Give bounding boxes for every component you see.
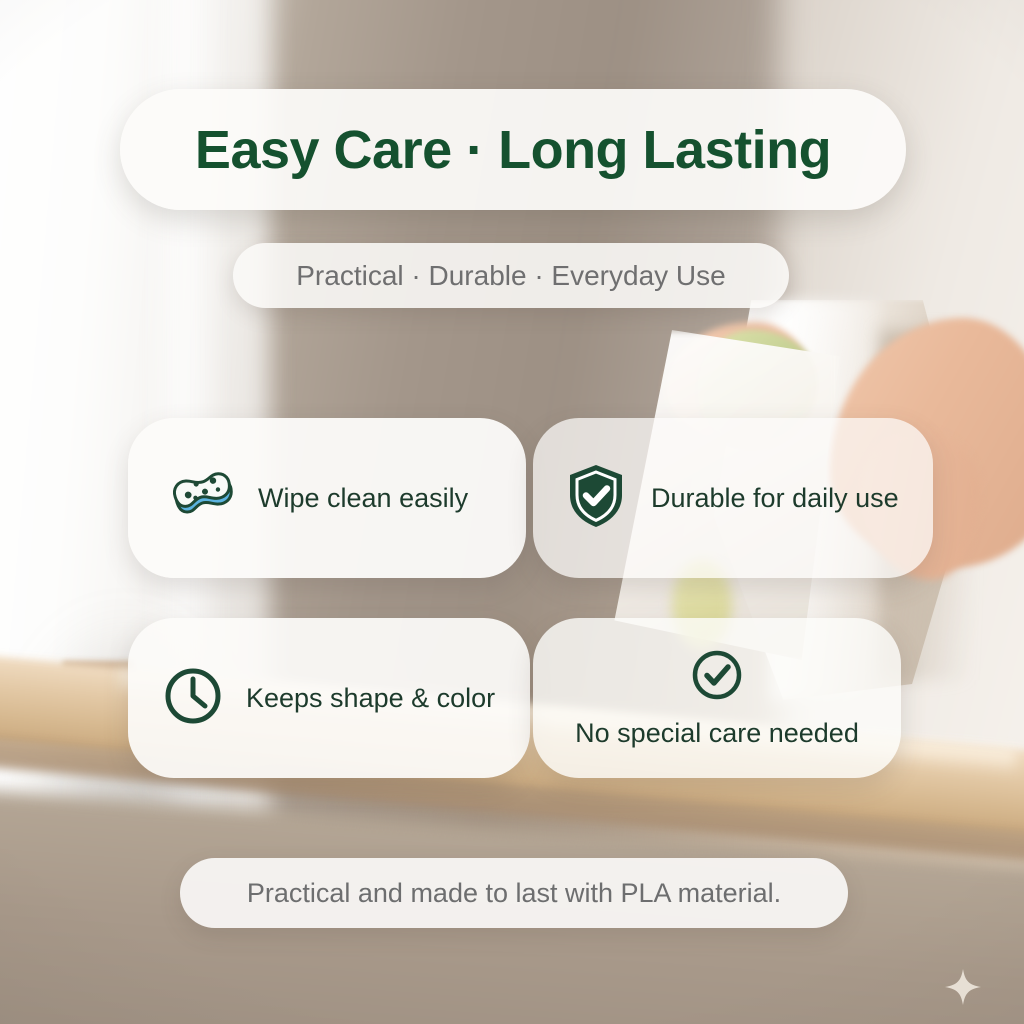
shield-check-icon [565,462,627,535]
feature-label: Keeps shape & color [246,683,495,714]
feature-card-keeps-shape[interactable]: Keeps shape & color [128,618,530,778]
footer-note: Practical and made to last with PLA mate… [247,878,781,909]
feature-label: No special care needed [575,718,859,749]
sponge-icon [162,466,234,531]
feature-card-wipe-clean[interactable]: Wipe clean easily [128,418,526,578]
clock-icon [162,665,224,732]
feature-label: Durable for daily use [651,483,899,514]
subtitle-pill: Practical · Durable · Everyday Use [233,243,789,308]
sparkle-icon [944,968,982,1006]
page-subtitle: Practical · Durable · Everyday Use [296,260,725,292]
circle-check-icon [689,647,745,708]
footer-pill: Practical and made to last with PLA mate… [180,858,848,928]
feature-card-no-special-care[interactable]: No special care needed [533,618,901,778]
feature-label: Wipe clean easily [258,483,468,514]
feature-card-durable[interactable]: Durable for daily use [533,418,933,578]
promo-graphic: Easy Care · Long Lasting Practical · Dur… [0,0,1024,1024]
title-pill: Easy Care · Long Lasting [120,89,906,210]
page-title: Easy Care · Long Lasting [195,123,831,177]
